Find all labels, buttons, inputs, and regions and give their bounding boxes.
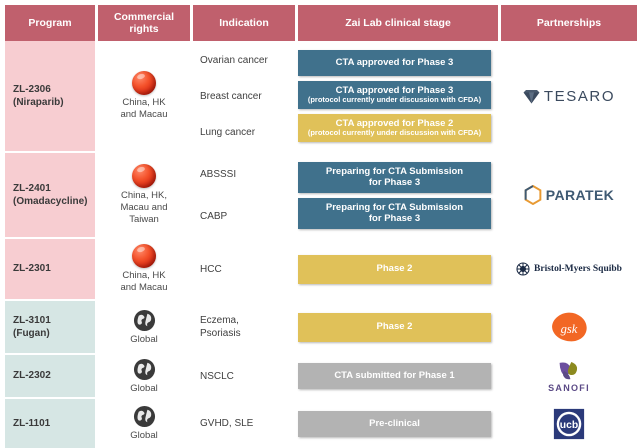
program-code: ZL-1101 bbox=[13, 417, 50, 431]
pipeline-table: Program Commercial rights Indication Zai… bbox=[0, 0, 640, 434]
china-globe-icon bbox=[132, 244, 156, 268]
cell-clinical-stage: Preparing for CTA Submission for Phase 3… bbox=[292, 153, 501, 237]
cell-clinical-stage: CTA submitted for Phase 1 bbox=[292, 355, 501, 397]
stage-bar-title: Phase 2 bbox=[377, 321, 413, 332]
cell-commercial-rights: China, HK, Macau and Taiwan bbox=[98, 153, 190, 237]
stage-bar-title: Phase 2 bbox=[377, 263, 413, 274]
sanofi-logo: SANOFI bbox=[548, 360, 590, 393]
cell-partnership: Bristol-Myers Squibb bbox=[501, 239, 637, 299]
global-globe-icon bbox=[133, 405, 156, 428]
program-code: ZL-2301 bbox=[13, 262, 51, 276]
china-globe-icon bbox=[132, 164, 156, 188]
table-body: ZL-2306 (Niraparib) China, HK and Macau … bbox=[5, 41, 637, 448]
cell-commercial-rights: Global bbox=[98, 301, 190, 353]
stage-bar-subtitle: (protocol currently under discussion wit… bbox=[308, 96, 481, 105]
stage-bar-title: Pre-clinical bbox=[369, 418, 420, 429]
header-cell-clinical-stage: Zai Lab clinical stage bbox=[298, 5, 498, 41]
rights-label: Global bbox=[130, 383, 157, 395]
rights-label: Global bbox=[130, 430, 157, 442]
header-cell-partnerships: Partnerships bbox=[501, 5, 637, 41]
stage-bar: CTA submitted for Phase 1 bbox=[298, 363, 491, 389]
tesaro-gem-icon bbox=[523, 89, 540, 104]
global-globe-icon bbox=[133, 358, 156, 381]
paratek-logo: PARATEK bbox=[524, 185, 614, 205]
cell-indication: HCC bbox=[190, 239, 292, 299]
stage-bar: Phase 2 bbox=[298, 255, 491, 284]
cell-clinical-stage: Pre-clinical bbox=[292, 399, 501, 448]
program-name: (Niraparib) bbox=[13, 97, 64, 108]
cell-partnership: ucb bbox=[501, 399, 637, 448]
indication-item: ABSSSI bbox=[200, 168, 292, 181]
cell-indication: NSCLC bbox=[190, 355, 292, 397]
header-cell-indication: Indication bbox=[193, 5, 295, 41]
stage-bar: Preparing for CTA Submission for Phase 3 bbox=[298, 198, 491, 229]
stage-bar: CTA approved for Phase 3 (protocol curre… bbox=[298, 81, 491, 109]
program-code: ZL-2302 bbox=[13, 369, 51, 383]
stage-bar-title: Preparing for CTA Submission bbox=[326, 202, 463, 213]
stage-bar-title: CTA approved for Phase 3 bbox=[336, 57, 454, 68]
stage-bar: Phase 2 bbox=[298, 313, 491, 342]
sanofi-wordmark: SANOFI bbox=[548, 383, 590, 393]
rights-label: China, HK and Macau bbox=[120, 270, 167, 294]
table-header-row: Program Commercial rights Indication Zai… bbox=[5, 0, 637, 41]
indication-item: HCC bbox=[200, 263, 292, 276]
cell-partnership: SANOFI bbox=[501, 355, 637, 397]
china-globe-icon bbox=[132, 71, 156, 95]
program-code: ZL-3101 bbox=[13, 315, 51, 326]
stage-bar-title: Preparing for CTA Submission bbox=[326, 166, 463, 177]
cell-commercial-rights: China, HK and Macau bbox=[98, 41, 190, 151]
bristol-myers-squibb-logo: Bristol-Myers Squibb bbox=[516, 262, 622, 276]
cell-indication: GVHD, SLE bbox=[190, 399, 292, 448]
cell-partnership: TESARO bbox=[501, 41, 637, 151]
program-code: ZL-2401 bbox=[13, 183, 51, 194]
gsk-wordmark: gsk bbox=[561, 322, 578, 336]
cell-program: ZL-2401 (Omadacycline) bbox=[5, 153, 95, 237]
stage-bar: CTA approved for Phase 2 (protocol curre… bbox=[298, 114, 491, 142]
stage-bar-title: CTA submitted for Phase 1 bbox=[334, 370, 454, 381]
cell-program: ZL-1101 bbox=[5, 399, 95, 448]
rights-label: China, HK, Macau and Taiwan bbox=[120, 190, 167, 226]
tesaro-logo: TESARO bbox=[523, 88, 615, 105]
cell-clinical-stage: Phase 2 bbox=[292, 301, 501, 353]
rights-label: Global bbox=[130, 334, 157, 346]
indication-item: GVHD, SLE bbox=[200, 417, 292, 430]
cell-commercial-rights: Global bbox=[98, 355, 190, 397]
cell-commercial-rights: Global bbox=[98, 399, 190, 448]
cell-indication: Eczema, Psoriasis bbox=[190, 301, 292, 353]
cell-commercial-rights: China, HK and Macau bbox=[98, 239, 190, 299]
cell-program: ZL-2302 bbox=[5, 355, 95, 397]
header-cell-commercial-rights: Commercial rights bbox=[98, 5, 190, 41]
cell-clinical-stage: Phase 2 bbox=[292, 239, 501, 299]
stage-bar-subtitle: for Phase 3 bbox=[369, 213, 420, 224]
ucb-logo: ucb bbox=[552, 407, 586, 441]
bms-mark-icon bbox=[516, 262, 530, 276]
stage-bar: Pre-clinical bbox=[298, 411, 491, 437]
program-name: (Omadacycline) bbox=[13, 196, 87, 207]
indication-item: Breast cancer bbox=[200, 90, 292, 103]
table-row: ZL-1101 Global GVHD, SLE Pre-clinical bbox=[5, 399, 637, 448]
indication-item: Lung cancer bbox=[200, 126, 292, 139]
tesaro-wordmark: TESARO bbox=[544, 88, 615, 105]
stage-bar-subtitle: (protocol currently under discussion wit… bbox=[308, 129, 481, 138]
stage-bar: Preparing for CTA Submission for Phase 3 bbox=[298, 162, 491, 193]
table-row: ZL-2401 (Omadacycline) China, HK, Macau … bbox=[5, 153, 637, 239]
indication-item: Eczema, Psoriasis bbox=[200, 314, 292, 340]
cell-indication: Ovarian cancer Breast cancer Lung cancer bbox=[190, 41, 292, 151]
cell-clinical-stage: CTA approved for Phase 3 CTA approved fo… bbox=[292, 41, 501, 151]
rights-label: China, HK and Macau bbox=[120, 97, 167, 121]
program-code: ZL-2306 bbox=[13, 84, 51, 95]
program-name: (Fugan) bbox=[13, 328, 50, 339]
table-row: ZL-2301 China, HK and Macau HCC Phase 2 bbox=[5, 239, 637, 301]
indication-item: Ovarian cancer bbox=[200, 54, 292, 67]
cell-partnership: gsk bbox=[501, 301, 637, 353]
indication-item: NSCLC bbox=[200, 370, 292, 383]
paratek-hexagon-icon bbox=[524, 185, 542, 205]
gsk-logo: gsk bbox=[549, 311, 589, 343]
ucb-wordmark: ucb bbox=[560, 419, 578, 430]
cell-partnership: PARATEK bbox=[501, 153, 637, 237]
cell-program: ZL-2301 bbox=[5, 239, 95, 299]
sanofi-mark-icon bbox=[556, 360, 583, 382]
cell-program: ZL-2306 (Niraparib) bbox=[5, 41, 95, 151]
header-cell-program: Program bbox=[5, 5, 95, 41]
stage-bar-subtitle: for Phase 3 bbox=[369, 177, 420, 188]
bms-wordmark: Bristol-Myers Squibb bbox=[534, 264, 622, 274]
paratek-wordmark: PARATEK bbox=[546, 187, 614, 203]
indication-item: CABP bbox=[200, 210, 292, 223]
cell-program: ZL-3101 (Fugan) bbox=[5, 301, 95, 353]
table-row: ZL-2302 Global NSCLC CTA submitted for P… bbox=[5, 355, 637, 399]
global-globe-icon bbox=[133, 309, 156, 332]
stage-bar: CTA approved for Phase 3 bbox=[298, 50, 491, 76]
cell-indication: ABSSSI CABP bbox=[190, 153, 292, 237]
table-row: ZL-2306 (Niraparib) China, HK and Macau … bbox=[5, 41, 637, 153]
table-row: ZL-3101 (Fugan) Global Eczema, Psoriasis… bbox=[5, 301, 637, 355]
